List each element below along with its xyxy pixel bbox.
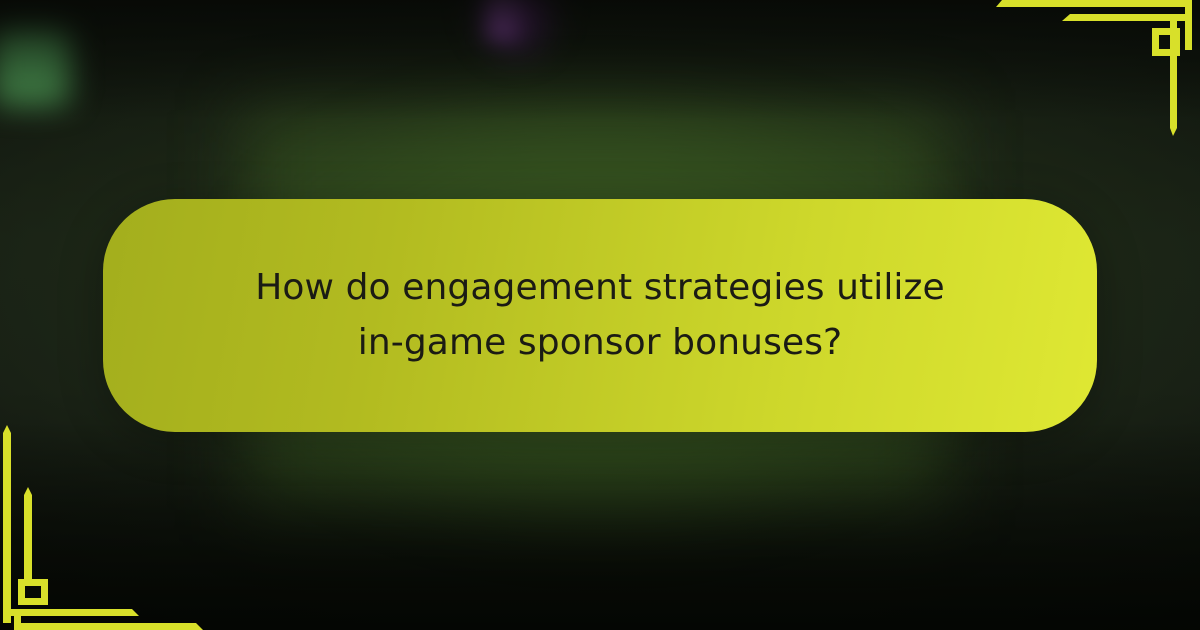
question-card-banner: How do engagement strategies utilize in-… — [0, 0, 1200, 630]
question-card: How do engagement strategies utilize in-… — [103, 199, 1097, 432]
background-bottom-shade — [0, 420, 1200, 630]
question-text: How do engagement strategies utilize in-… — [250, 261, 950, 370]
background-top-shade — [0, 0, 1200, 120]
